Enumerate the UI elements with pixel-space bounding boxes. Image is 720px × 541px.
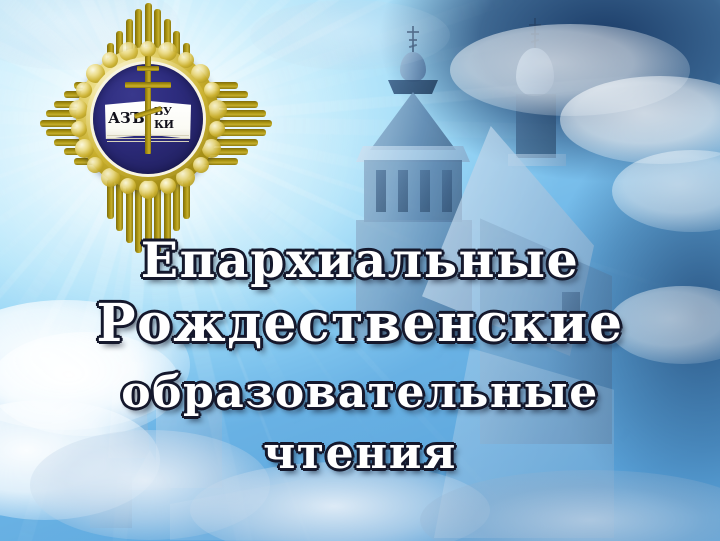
wreath-scallop [139, 180, 158, 199]
wreath-scallop [160, 178, 176, 194]
azbuki-emblem[interactable]: АЗЪ БУ КИ [52, 12, 244, 234]
wreath-scallop [208, 100, 227, 119]
poster-canvas: АЗЪ БУ КИ Епархиальные Рождественские об… [0, 0, 720, 541]
orthodox-cross-icon [125, 56, 171, 154]
wreath-scallop [193, 157, 209, 173]
wreath-scallop [71, 121, 87, 137]
wreath-scallop [204, 82, 220, 98]
wreath-scallop [140, 41, 156, 57]
wreath-scallop [120, 178, 136, 194]
